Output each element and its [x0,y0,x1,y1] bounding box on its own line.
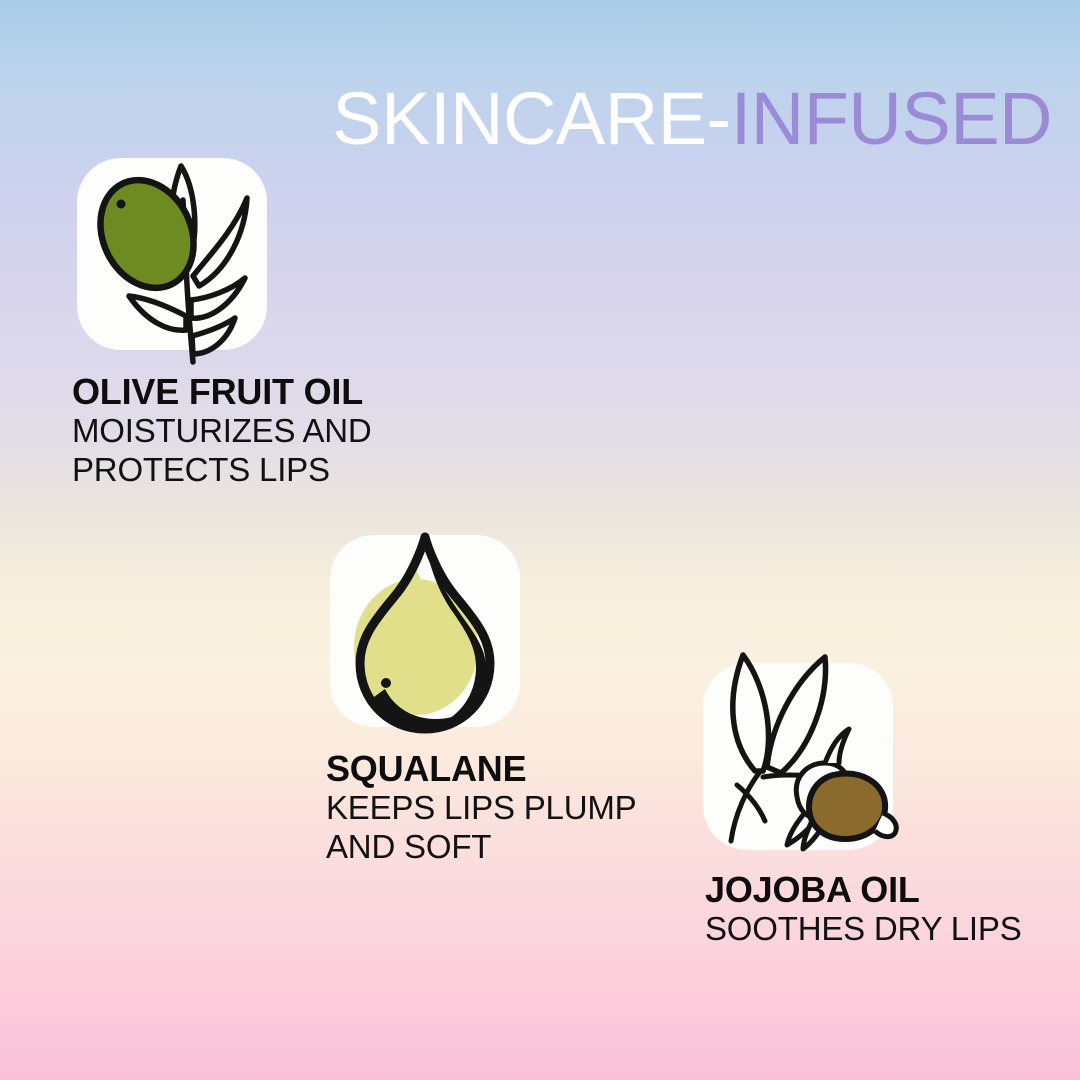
oil-droplet-icon [312,507,538,747]
ingredient-title-olive: OLIVE FRUIT OIL [72,372,372,412]
ingredient-labels-squalane: SQUALANE KEEPS LIPS PLUMP AND SOFT [326,749,636,866]
icon-tile-jojoba [703,663,893,850]
page-title-accent: INFUSED [731,77,1052,160]
skincare-infographic: SKINCARE-INFUSED [0,0,1080,1080]
ingredient-title-jojoba: JOJOBA OIL [705,870,1022,910]
ingredient-card-olive: OLIVE FRUIT OIL MOISTURIZES AND PROTECTS… [77,158,372,489]
icon-tile-squalane [330,535,520,727]
ingredient-labels-olive: OLIVE FRUIT OIL MOISTURIZES AND PROTECTS… [72,372,372,489]
ingredient-title-squalane: SQUALANE [326,749,636,789]
ingredient-card-squalane: SQUALANE KEEPS LIPS PLUMP AND SOFT [330,535,636,866]
ingredient-desc-line1-jojoba: SOOTHES DRY LIPS [705,910,1022,948]
ingredient-desc-line2-olive: PROTECTS LIPS [72,451,372,489]
jojoba-seed-icon [685,635,911,875]
olive-branch-icon [59,130,285,370]
ingredient-card-jojoba: JOJOBA OIL SOOTHES DRY LIPS [703,663,1022,949]
ingredient-desc-line1-squalane: KEEPS LIPS PLUMP [326,789,636,827]
icon-tile-olive [77,158,267,350]
ingredient-desc-line1-olive: MOISTURIZES AND [72,412,372,450]
page-title-primary: SKINCARE- [332,77,730,160]
ingredient-desc-line2-squalane: AND SOFT [326,828,636,866]
ingredient-labels-jojoba: JOJOBA OIL SOOTHES DRY LIPS [705,870,1022,949]
